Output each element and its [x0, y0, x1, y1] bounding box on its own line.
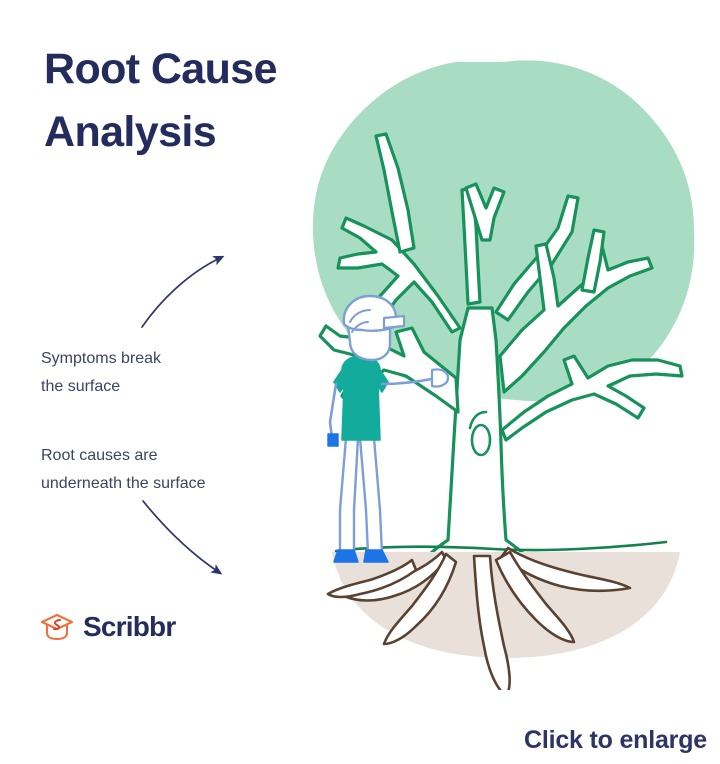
person-right-hand — [432, 369, 448, 386]
person-right-shoe — [364, 550, 388, 562]
caption-root-causes-underneath: Root causes are underneath the surface — [41, 442, 301, 498]
person-cap-brim — [384, 316, 404, 328]
graduation-cap-icon — [40, 612, 74, 642]
scribbr-wordmark: Scribbr — [83, 613, 175, 641]
tree-illustration — [296, 40, 716, 690]
person-left-shoe — [334, 550, 358, 562]
person-left-hand — [328, 434, 338, 446]
person-left-leg-fill — [340, 438, 358, 554]
arrow-down-icon — [140, 495, 245, 590]
person-left-arm — [330, 384, 336, 438]
root-cause-analysis-infographic[interactable]: Root Cause Analysis Symptoms break the s… — [0, 0, 720, 764]
click-to-enlarge-label[interactable]: Click to enlarge — [524, 726, 707, 755]
scribbr-logo[interactable]: Scribbr — [40, 612, 175, 642]
person-right-leg-fill — [360, 438, 382, 554]
caption-symptoms-break-the-surface: Symptoms break the surface — [41, 345, 281, 401]
arrow-up-icon — [140, 235, 245, 330]
